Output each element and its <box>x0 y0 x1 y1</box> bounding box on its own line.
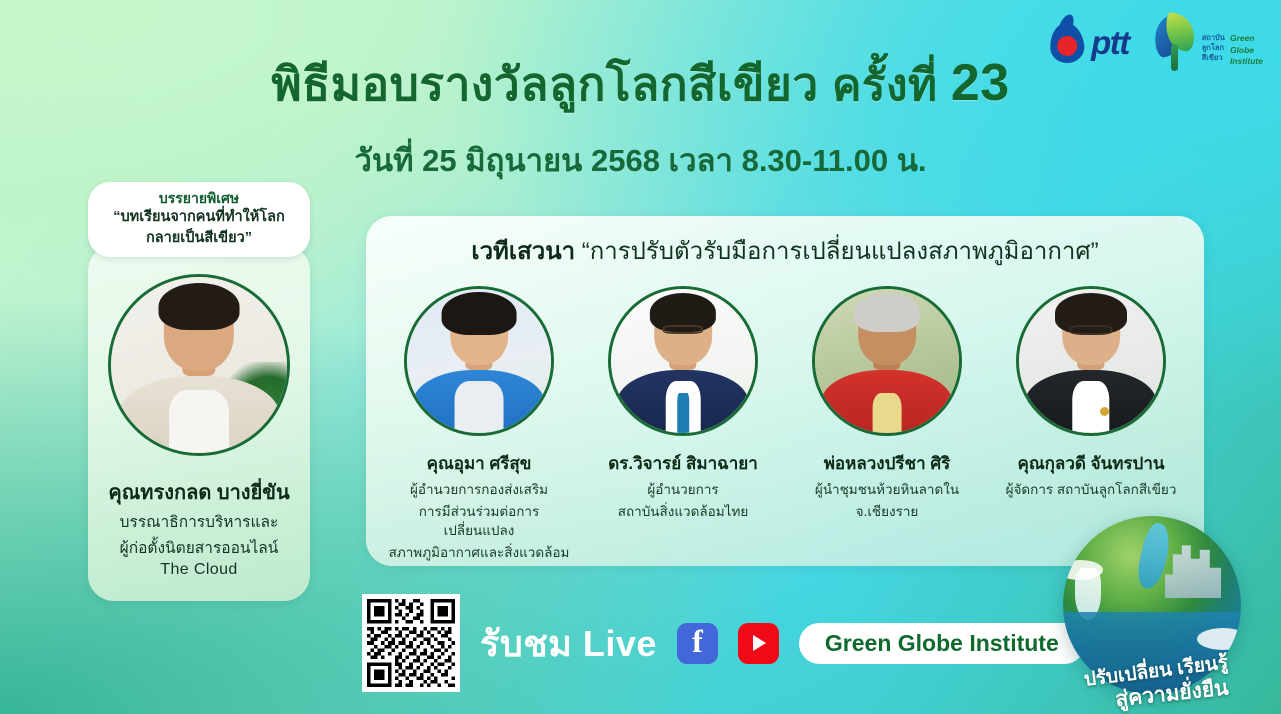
live-watch-bar: รับชม Live f Green Globe Institute <box>362 594 1085 692</box>
keynote-speaker-role-line-1: บรรณาธิการบริหารและ <box>98 512 300 534</box>
panelist-role-3-line-1: ผู้นำชุมชนห้วยหินลาดใน <box>792 480 982 499</box>
forum-title: เวทีเสวนา “การปรับตัวรับมือการเปลี่ยนแปล… <box>366 231 1204 270</box>
forum-title-label: เวทีเสวนา <box>471 238 575 265</box>
list-item: คุณกุลวดี จันทรปาน ผู้จัดการ สถาบันลูกโล… <box>996 286 1186 499</box>
panelist-name-2: ดร.วิจารย์ สิมาฉายา <box>588 450 778 477</box>
channel-name-label: Green Globe Institute <box>825 630 1059 657</box>
campaign-tagline: ปรับเปลี่ยน เรียนรู้ สู่ความยั่งยืน <box>1037 661 1275 708</box>
panelist-role-4-line-1: ผู้จัดการ สถาบันลูกโลกสีเขียว <box>996 480 1186 499</box>
panelist-name-4: คุณกุลวดี จันทรปาน <box>996 450 1186 477</box>
panelist-role-1-line-1: ผู้อำนวยการกองส่งเสริม <box>384 480 574 499</box>
panelist-role-1-line-3: สภาพภูมิอากาศและสิ่งแวดล้อม <box>384 543 574 562</box>
panelist-name-3: พ่อหลวงปรีชา ศิริ <box>792 450 982 477</box>
title-main-text: พิธีมอบรางวัลลูกโลกสีเขียว <box>271 58 818 110</box>
title-ordinal-text: ครั้งที่ <box>832 61 938 110</box>
keynote-speaker-organization: The Cloud <box>98 561 300 579</box>
poster-header: พิธีมอบรางวัลลูกโลกสีเขียว ครั้งที่ 23 ว… <box>0 48 1281 185</box>
page-title: พิธีมอบรางวัลลูกโลกสีเขียว ครั้งที่ 23 <box>0 48 1281 121</box>
panelist-photo-1 <box>404 286 554 436</box>
panelist-role-2-line-1: ผู้อำนวยการ <box>588 480 778 499</box>
list-item: ดร.วิจารย์ สิมาฉายา ผู้อำนวยการ สถาบันสิ… <box>588 286 778 521</box>
qr-code[interactable] <box>362 594 460 692</box>
keynote-speaker-role-line-2: ผู้ก่อตั้งนิตยสารออนไลน์ <box>98 538 300 560</box>
facebook-icon[interactable]: f <box>677 623 718 664</box>
panelist-photo-2 <box>608 286 758 436</box>
youtube-icon[interactable] <box>738 623 779 664</box>
keynote-card: คุณทรงกลด บางยี่ขัน บรรณาธิการบริหารและ … <box>88 245 310 601</box>
panelist-photo-3 <box>812 286 962 436</box>
panelist-role-3-line-2: จ.เชียงราย <box>792 502 982 521</box>
panelist-role-2-line-2: สถาบันสิ่งแวดล้อมไทย <box>588 502 778 521</box>
list-item: คุณอุมา ศรีสุข ผู้อำนวยการกองส่งเสริม กา… <box>384 286 574 563</box>
panelist-photo-4 <box>1016 286 1166 436</box>
ggi-thai-line-1: สถาบัน <box>1202 33 1225 43</box>
panelist-name-1: คุณอุมา ศรีสุข <box>384 450 574 477</box>
qr-code-icon <box>367 599 455 687</box>
event-datetime: วันที่ 25 มิถุนายน 2568 เวลา 8.30-11.00 … <box>0 135 1281 185</box>
title-edition-number: 23 <box>951 54 1010 112</box>
keynote-speaker-photo <box>108 274 290 456</box>
keynote-speaker-name: คุณทรงกลด บางยี่ขัน <box>98 476 300 508</box>
green-earth-illustration: ปรับเปลี่ยน เรียนรู้ สู่ความยั่งยืน <box>1029 502 1275 714</box>
keynote-badge-label: บรรยายพิเศษ <box>98 190 300 207</box>
keynote-quote-line-2: กลายเป็นสีเขียว” <box>98 229 300 249</box>
keynote-section: บรรยายพิเศษ “บทเรียนจากคนที่ทำให้โลก กลา… <box>88 182 310 601</box>
event-poster: ptt สถาบัน ลูกโลก สีเขียว Green Globe In… <box>0 0 1281 714</box>
keynote-badge: บรรยายพิเศษ “บทเรียนจากคนที่ทำให้โลก กลา… <box>88 182 310 257</box>
forum-title-topic: “การปรับตัวรับมือการเปลี่ยนแปลงสภาพภูมิอ… <box>582 238 1099 265</box>
panelist-role-1-line-2: การมีส่วนร่วมต่อการเปลี่ยนแปลง <box>384 502 574 540</box>
keynote-quote-line-1: “บทเรียนจากคนที่ทำให้โลก <box>98 208 300 228</box>
ggi-en-line-1: Green <box>1230 33 1263 45</box>
watch-live-label: รับชม Live <box>480 615 657 672</box>
list-item: พ่อหลวงปรีชา ศิริ ผู้นำชุมชนห้วยหินลาดใน… <box>792 286 982 521</box>
